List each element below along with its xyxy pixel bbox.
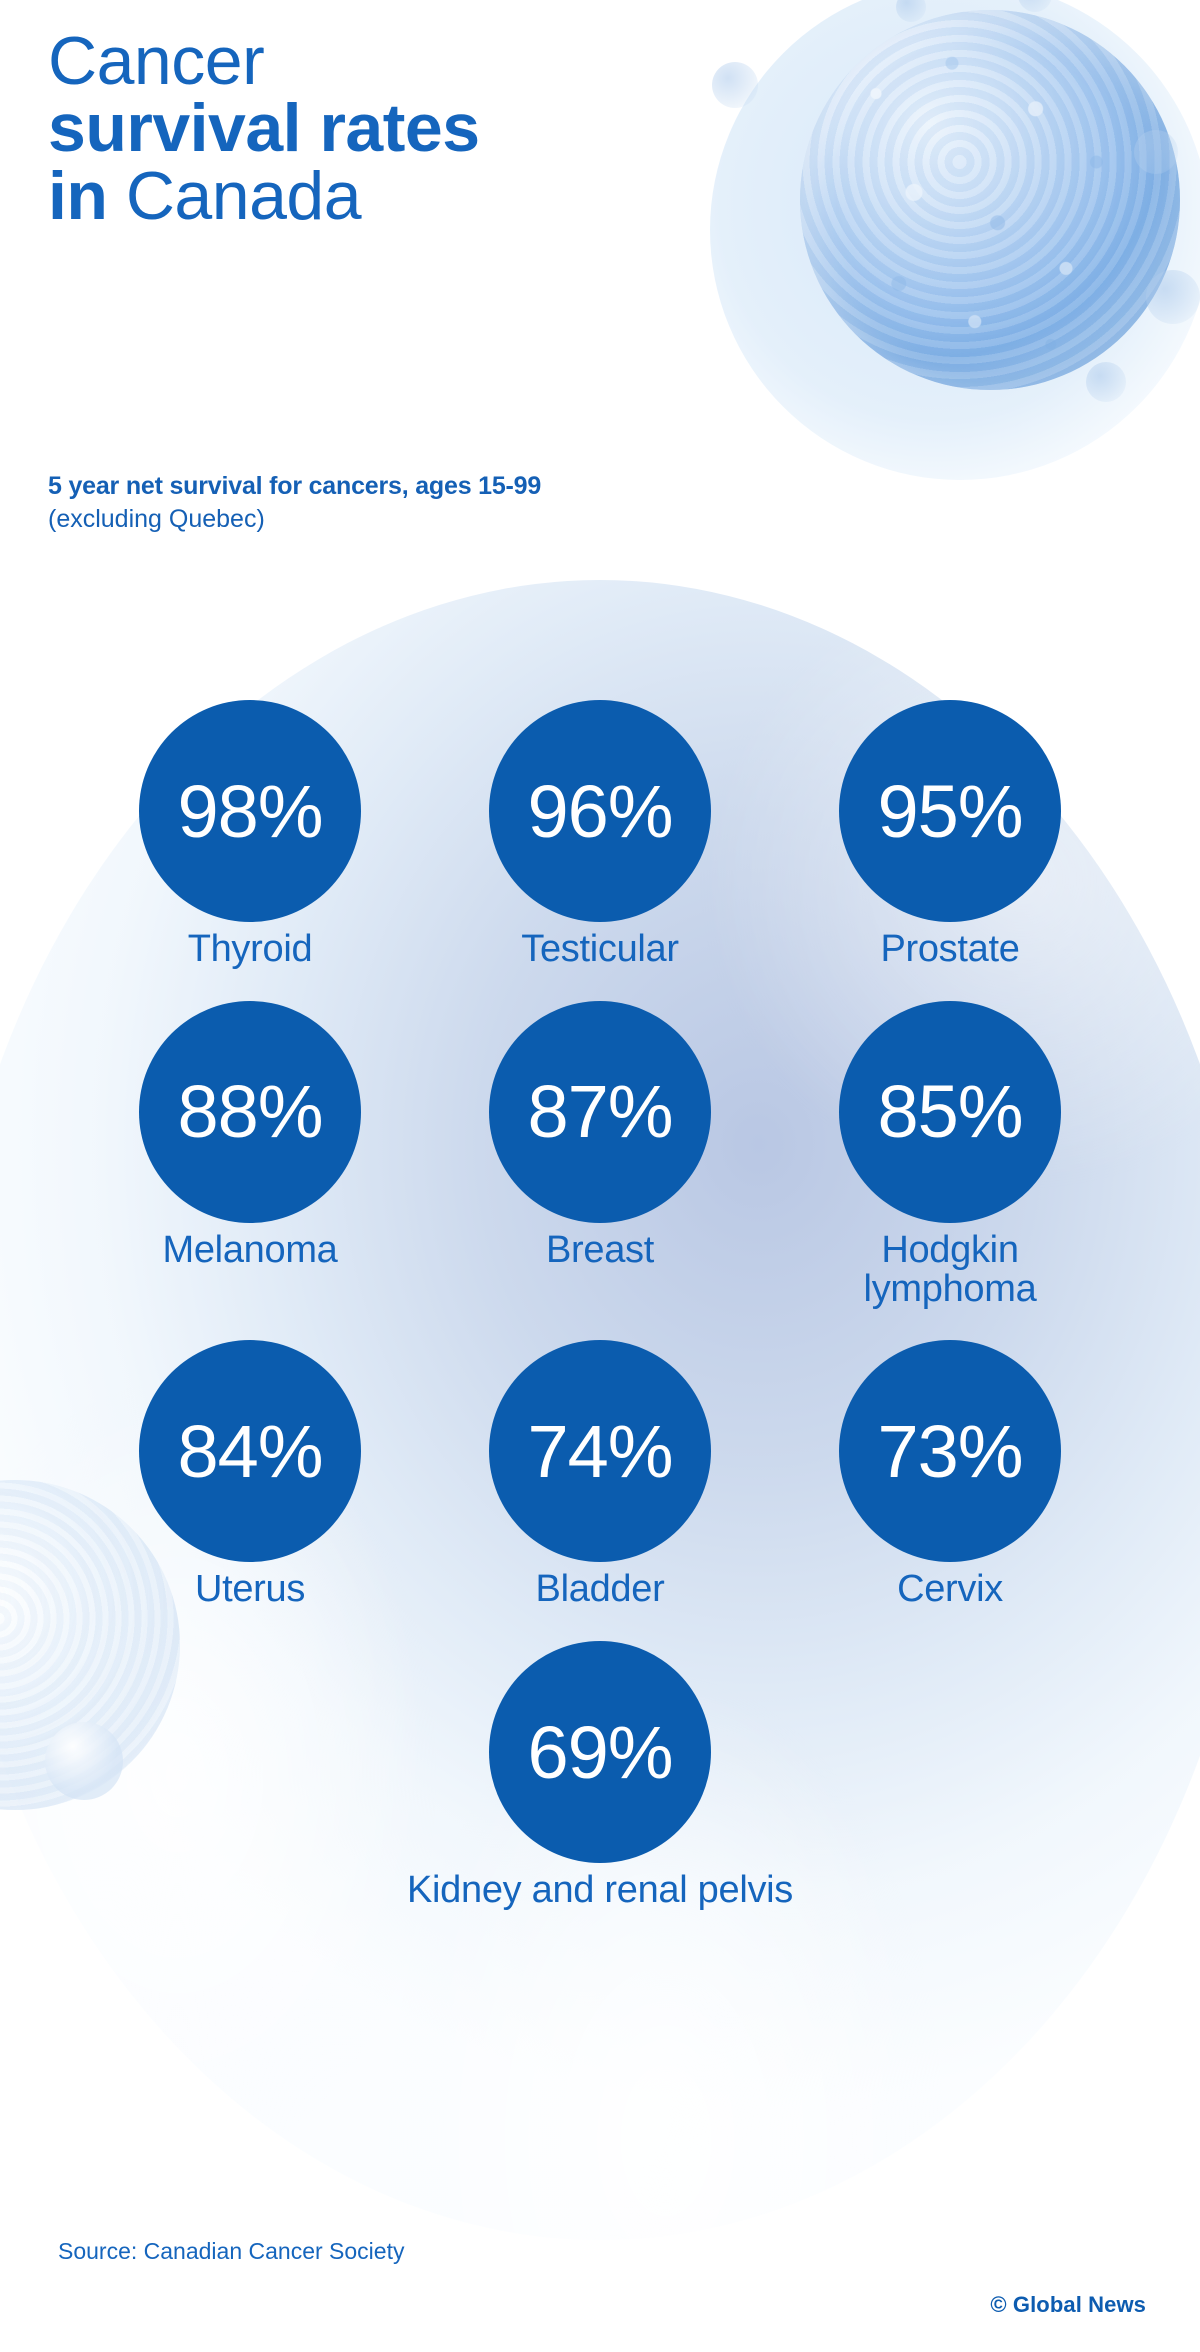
stat-item-kidney-and-renal-pelvis: 69% Kidney and renal pelvis — [300, 1641, 900, 1910]
hero-cell-image — [700, 0, 1200, 510]
stat-value-bubble: 73% — [839, 1340, 1061, 1562]
stat-row: 98% Thyroid 96% Testicular 95% Prostate — [0, 700, 1200, 969]
stat-item-uterus: 84% Uterus — [130, 1340, 370, 1609]
title-line-1: Cancer — [48, 28, 668, 95]
hero-blob-icon — [712, 62, 758, 108]
source-note: Source: Canadian Cancer Society — [58, 2238, 404, 2265]
cell-sphere-icon — [800, 10, 1180, 390]
stat-item-testicular: 96% Testicular — [480, 700, 720, 969]
title-word-canada: Canada — [126, 158, 361, 234]
stat-label: Bladder — [536, 1570, 665, 1609]
title-line-3: in Canada — [48, 163, 668, 230]
stat-label: Melanoma — [162, 1231, 337, 1270]
stat-item-breast: 87% Breast — [480, 1001, 720, 1309]
hero-blob-icon — [1146, 270, 1200, 324]
title-word-in: in — [48, 158, 126, 234]
hero-blob-icon — [1086, 362, 1126, 402]
stat-value-bubble: 96% — [489, 700, 711, 922]
infographic-root: Cancer survival rates in Canada 5 year n… — [0, 0, 1200, 2352]
stat-value-bubble: 88% — [139, 1001, 361, 1223]
title-word-survival-rates: survival rates — [48, 90, 480, 166]
stat-label: Cervix — [897, 1570, 1003, 1609]
subtitle-line-2: (excluding Quebec) — [48, 503, 748, 536]
subtitle-line-1: 5 year net survival for cancers, ages 15… — [48, 470, 748, 503]
hero-blob-icon — [1134, 130, 1178, 174]
stat-item-cervix: 73% Cervix — [830, 1340, 1070, 1609]
copyright-credit: © Global News — [990, 2292, 1146, 2318]
stat-item-thyroid: 98% Thyroid — [130, 700, 370, 969]
subtitle: 5 year net survival for cancers, ages 15… — [48, 470, 748, 535]
stat-value-bubble: 85% — [839, 1001, 1061, 1223]
stat-label: Testicular — [521, 930, 679, 969]
stat-item-melanoma: 88% Melanoma — [130, 1001, 370, 1309]
stat-row: 69% Kidney and renal pelvis — [0, 1641, 1200, 1910]
cell-texture-icon — [800, 10, 1180, 390]
title-line-2: survival rates — [48, 95, 668, 162]
stat-item-bladder: 74% Bladder — [480, 1340, 720, 1609]
stat-value-bubble: 95% — [839, 700, 1061, 922]
stat-label: Breast — [546, 1231, 654, 1270]
stat-label: Uterus — [195, 1570, 305, 1609]
stat-item-hodgkin-lymphoma: 85% Hodgkin lymphoma — [830, 1001, 1070, 1309]
stat-value-bubble: 98% — [139, 700, 361, 922]
stat-row: 88% Melanoma 87% Breast 85% Hodgkin lymp… — [0, 1001, 1200, 1309]
stat-value-bubble: 74% — [489, 1340, 711, 1562]
stat-value-bubble: 84% — [139, 1340, 361, 1562]
stat-value-bubble: 69% — [489, 1641, 711, 1863]
stat-label: Kidney and renal pelvis — [407, 1871, 793, 1910]
stat-label: Prostate — [880, 930, 1019, 969]
stat-label: Thyroid — [188, 930, 313, 969]
stat-value-bubble: 87% — [489, 1001, 711, 1223]
stat-label: Hodgkin lymphoma — [864, 1231, 1037, 1309]
stat-row: 84% Uterus 74% Bladder 73% Cervix — [0, 1340, 1200, 1609]
title-word-cancer: Cancer — [48, 23, 264, 99]
page-title: Cancer survival rates in Canada — [48, 28, 668, 230]
stat-grid: 98% Thyroid 96% Testicular 95% Prostate … — [0, 700, 1200, 1942]
stat-item-prostate: 95% Prostate — [830, 700, 1070, 969]
